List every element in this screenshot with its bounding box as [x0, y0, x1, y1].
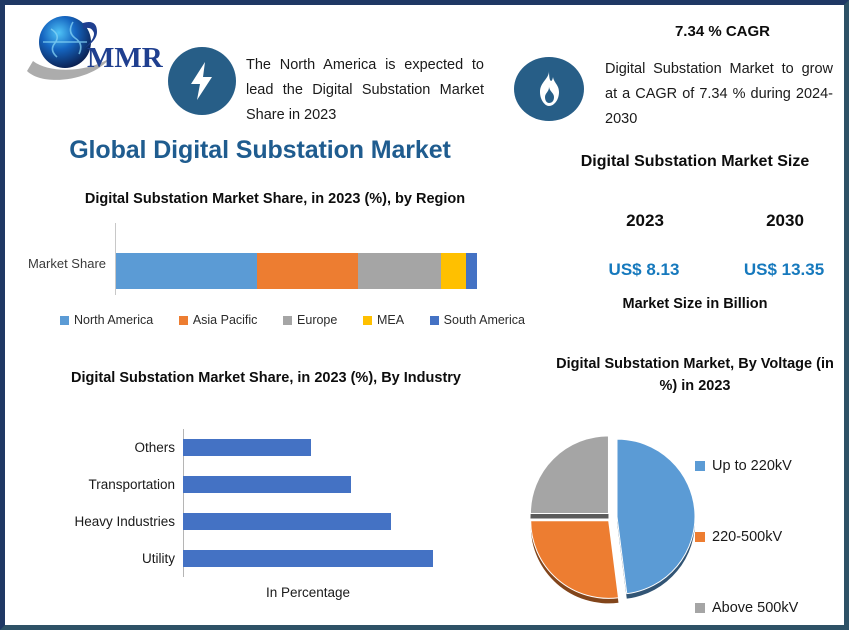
industry-bar: [183, 513, 391, 530]
voltage-pie-graphic: [517, 425, 707, 615]
pie-slice: [530, 436, 608, 514]
region-legend-label: South America: [444, 313, 525, 327]
region-chart-stacked-bar: [116, 253, 477, 289]
industry-bar-row: Transportation: [183, 466, 433, 503]
legend-swatch-icon: [283, 316, 292, 325]
legend-swatch-icon: [179, 316, 188, 325]
region-legend-item[interactable]: North America: [60, 313, 153, 327]
industry-bar-row: Heavy Industries: [183, 503, 433, 540]
mmr-logo-graphic: MMR: [21, 9, 171, 85]
industry-bar-row: Others: [183, 429, 433, 466]
industry-bar: [183, 476, 351, 493]
voltage-legend-label: Up to 220kV: [712, 458, 792, 474]
industry-chart-xlabel: In Percentage: [183, 585, 433, 600]
voltage-pie-chart: [517, 425, 707, 615]
region-legend-item[interactable]: MEA: [363, 313, 404, 327]
legend-swatch-icon: [695, 532, 705, 542]
legend-swatch-icon: [430, 316, 439, 325]
market-size-value-base: US$ 8.13: [583, 260, 705, 280]
flame-icon: [514, 57, 584, 121]
flame-glyph: [535, 70, 563, 108]
region-bar-segment: [116, 253, 257, 289]
region-legend-label: Asia Pacific: [193, 313, 258, 327]
callout-north-america: The North America is expected to lead th…: [246, 53, 484, 128]
region-bar-segment: [441, 253, 466, 289]
industry-bar: [183, 439, 311, 456]
infographic-canvas: MMR The North America is expected to lea…: [0, 0, 849, 630]
cagr-headline: 7.34 % CAGR: [605, 23, 840, 40]
industry-chart-plot: OthersTransportationHeavy IndustriesUtil…: [183, 429, 433, 577]
region-legend-label: North America: [74, 313, 153, 327]
industry-bar: [183, 550, 433, 567]
region-legend-item[interactable]: Europe: [283, 313, 337, 327]
voltage-legend-item[interactable]: Up to 220kV: [695, 430, 845, 501]
industry-bar-label: Transportation: [88, 477, 175, 492]
voltage-legend-label: Above 500kV: [712, 600, 798, 616]
logo-wordmark: MMR: [87, 42, 164, 74]
legend-swatch-icon: [695, 461, 705, 471]
legend-swatch-icon: [60, 316, 69, 325]
pie-slice: [617, 439, 695, 594]
voltage-chart-title: Digital Substation Market, By Voltage (i…: [550, 354, 840, 398]
region-chart-legend: North AmericaAsia PacificEuropeMEASouth …: [60, 313, 525, 327]
industry-bar-label: Heavy Industries: [74, 514, 175, 529]
lightning-bolt-glyph: [187, 60, 217, 102]
legend-swatch-icon: [363, 316, 372, 325]
lightning-bolt-icon: [168, 47, 236, 115]
voltage-chart-legend: Up to 220kV220-500kVAbove 500kV: [695, 430, 845, 630]
region-bar-segment: [257, 253, 358, 289]
market-size-value-forecast: US$ 13.35: [723, 260, 845, 280]
industry-chart-title: Digital Substation Market Share, in 2023…: [31, 368, 501, 390]
market-size-footnote: Market Size in Billion: [550, 296, 840, 312]
region-legend-item[interactable]: Asia Pacific: [179, 313, 258, 327]
industry-bar-label: Others: [134, 440, 175, 455]
region-bar-segment: [466, 253, 477, 289]
voltage-legend-label: 220-500kV: [712, 529, 782, 545]
pie-slice: [531, 521, 619, 599]
industry-bar-row: Utility: [183, 540, 433, 577]
voltage-legend-item[interactable]: Above 500kV: [695, 572, 845, 630]
region-legend-label: Europe: [297, 313, 337, 327]
market-size-year-base: 2023: [585, 211, 705, 231]
industry-bar-label: Utility: [142, 551, 175, 566]
region-bar-segment: [358, 253, 441, 289]
region-legend-label: MEA: [377, 313, 404, 327]
region-chart-category-label: Market Share: [25, 255, 109, 273]
region-legend-item[interactable]: South America: [430, 313, 525, 327]
market-size-heading: Digital Substation Market Size: [550, 153, 840, 171]
callout-cagr: Digital Substation Market to grow at a C…: [605, 57, 833, 132]
voltage-legend-item[interactable]: 220-500kV: [695, 501, 845, 572]
mmr-logo: MMR: [21, 9, 171, 85]
page-title: Global Digital Substation Market: [25, 136, 495, 165]
legend-swatch-icon: [695, 603, 705, 613]
market-size-year-forecast: 2030: [725, 211, 845, 231]
region-chart-title: Digital Substation Market Share, in 2023…: [40, 189, 510, 211]
